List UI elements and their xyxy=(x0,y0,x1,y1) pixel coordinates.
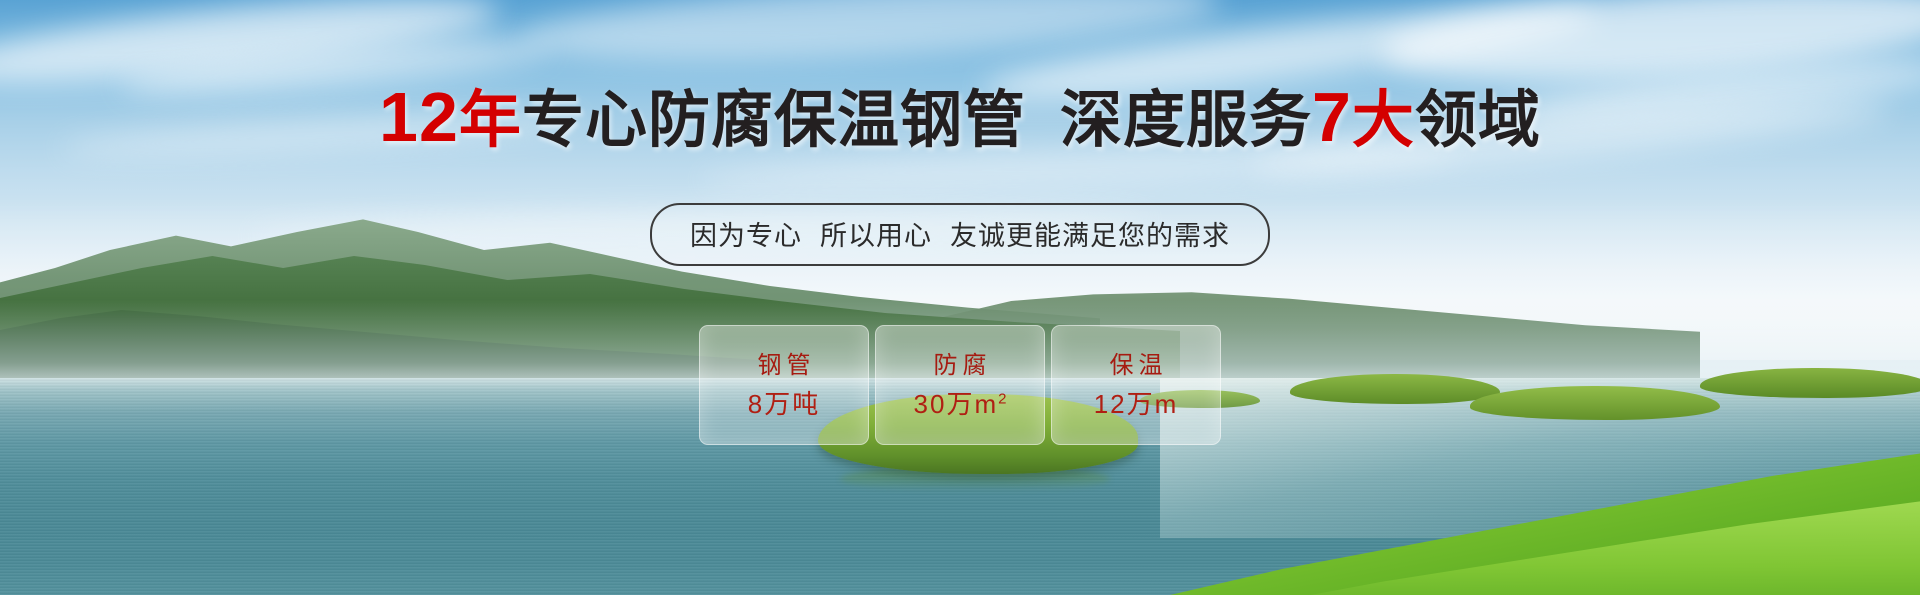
headline-segment-one: 专心防腐保温钢管 xyxy=(522,86,1026,155)
headline-segment-three: 领域 xyxy=(1415,86,1541,155)
stat-card-anticorrosion: 防腐 30万m2 xyxy=(875,325,1045,445)
stat-card-steel-pipe: 钢管 8万吨 xyxy=(699,325,869,445)
stat-card-value-text: 8万吨 xyxy=(748,389,820,419)
subtitle-pill: 因为专心所以用心友诚更能满足您的需求 xyxy=(650,203,1270,266)
subtitle-part-two: 所以用心 xyxy=(820,221,932,251)
banner-content: 12年专心防腐保温钢管深度服务7大领域 因为专心所以用心友诚更能满足您的需求 钢… xyxy=(0,0,1920,595)
subtitle-part-three: 友诚更能满足您的需求 xyxy=(950,221,1230,251)
stat-card-value-text: 30万m xyxy=(914,389,999,419)
stat-card-value-text: 12万m xyxy=(1094,389,1179,419)
headline-highlight-number: 7 xyxy=(1312,78,1352,156)
stat-card-insulation: 保温 12万m xyxy=(1051,325,1221,445)
stat-card-value: 8万吨 xyxy=(748,391,820,417)
stat-card-value: 12万m xyxy=(1094,391,1179,417)
stat-card-label: 防腐 xyxy=(929,354,992,378)
stat-card-value-superscript: 2 xyxy=(998,390,1006,407)
stat-card-label: 钢管 xyxy=(753,354,816,378)
promo-banner: 12年专心防腐保温钢管深度服务7大领域 因为专心所以用心友诚更能满足您的需求 钢… xyxy=(0,0,1920,595)
stat-card-label: 保温 xyxy=(1105,354,1168,378)
headline-years-number: 12 xyxy=(379,78,459,156)
headline-years-unit: 年 xyxy=(459,86,522,155)
headline-segment-two: 深度服务 xyxy=(1060,86,1312,155)
subtitle-part-one: 因为专心 xyxy=(690,221,802,251)
stat-card-value: 30万m2 xyxy=(914,391,1007,417)
stat-card-group: 钢管 8万吨 防腐 30万m2 保温 12万m xyxy=(699,325,1221,445)
headline-highlight-unit: 大 xyxy=(1352,86,1415,155)
headline: 12年专心防腐保温钢管深度服务7大领域 xyxy=(0,82,1920,152)
